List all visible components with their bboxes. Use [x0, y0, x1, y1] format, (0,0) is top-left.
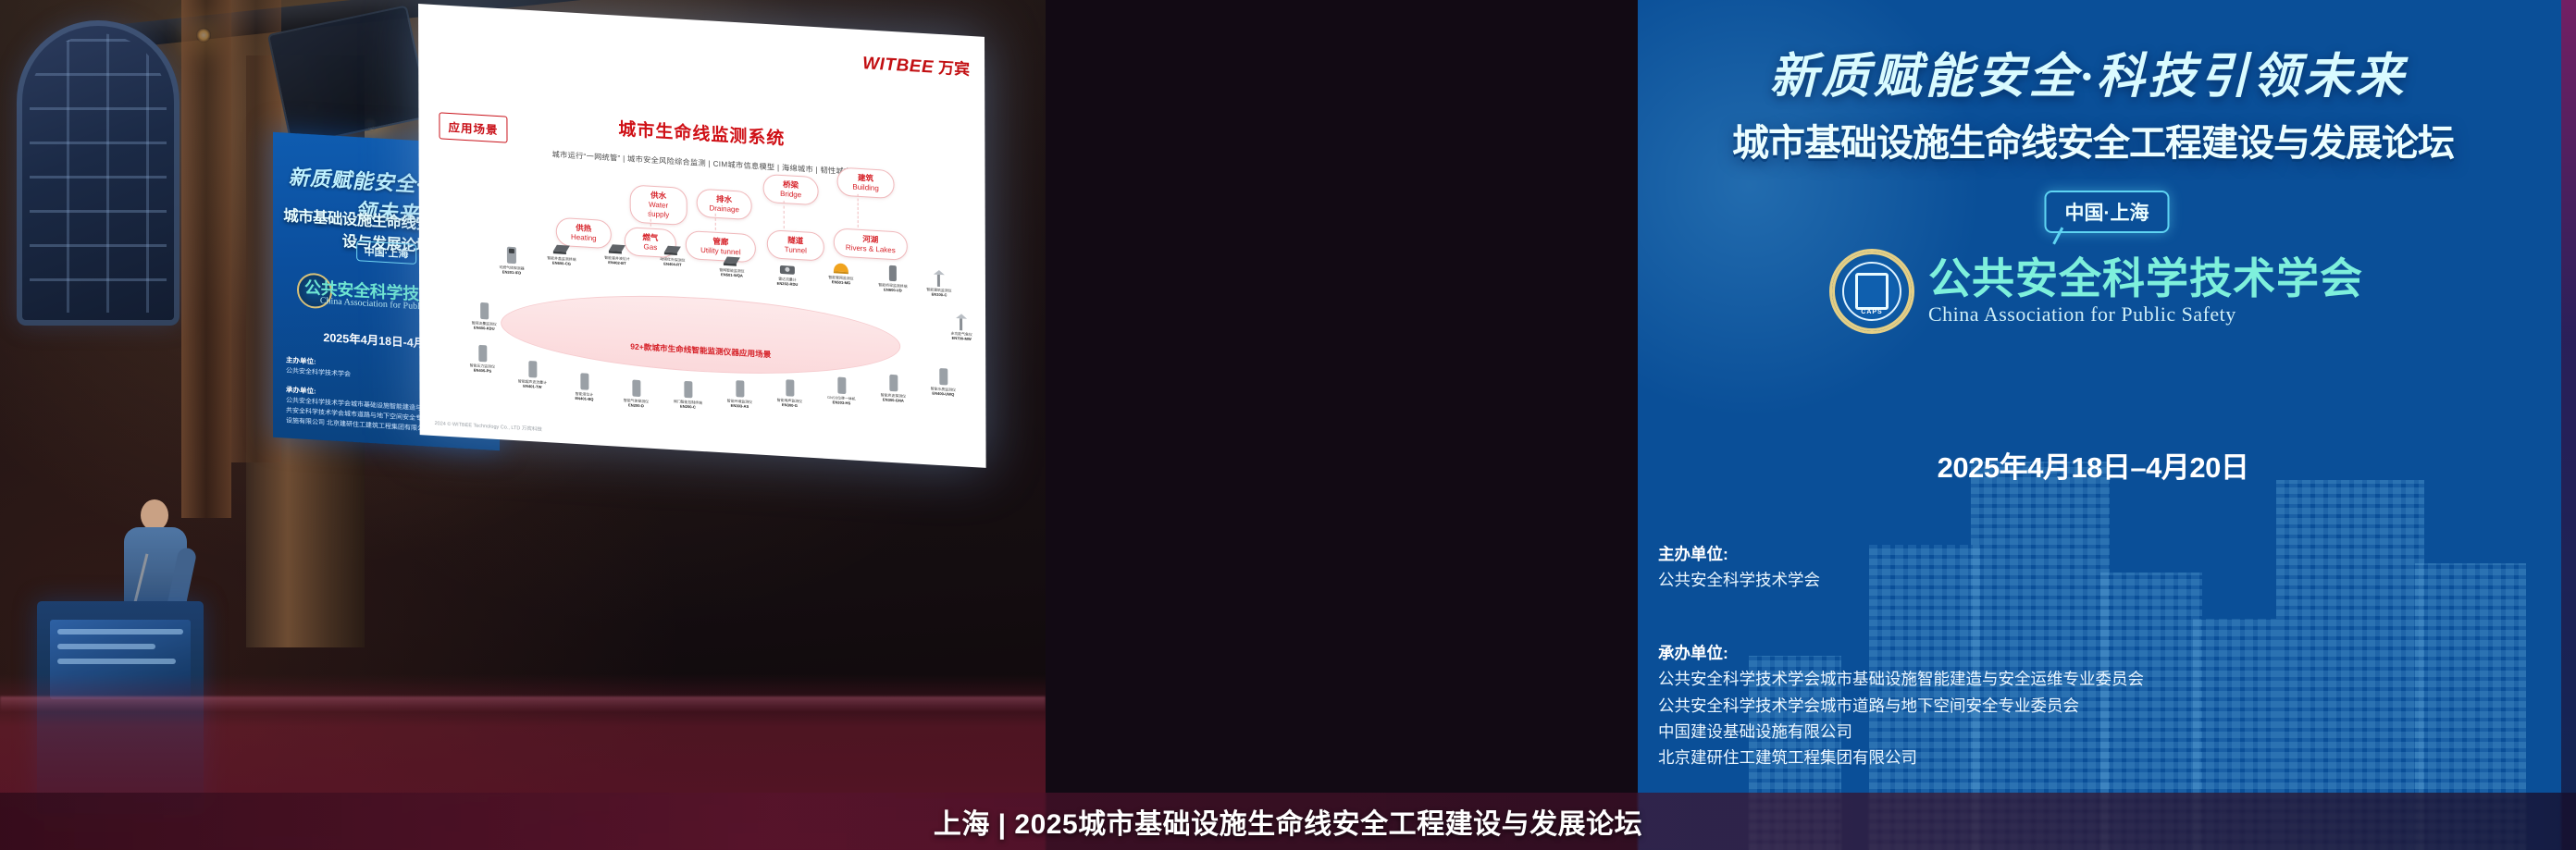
device-item: 智能桥梁监测终端 EN600-VD: [869, 264, 917, 295]
flow-meter-icon: [779, 262, 796, 277]
backdrop-organizer-en: China Association for Public Safety: [1928, 302, 2363, 326]
manhole-device-icon: [663, 243, 683, 256]
mini-coorg-label: 承办单位:: [286, 386, 316, 396]
backdrop-location-chip: 中国·上海: [2045, 191, 2170, 233]
device-item: 智能液位计 EN401-BQ: [560, 371, 608, 403]
device-item: 智能压力监测仪 EN405-PS: [458, 343, 506, 376]
witbee-logo-en: WITBEE: [862, 54, 934, 79]
device-item: 可燃气体探测器 EN301-IFD: [488, 244, 536, 277]
device-item: 智能声波探测仪 EN300-GNA: [869, 373, 917, 405]
caption-text: 上海 | 2025城市基础设施生命线安全工程建设与发展论坛: [934, 801, 1642, 842]
backdrop-calligraphy-slogan: 新质赋能安全·科技引领未来: [1638, 37, 2539, 106]
mini-host-label: 主办单位:: [286, 356, 316, 366]
device-item: GNSS位移一体机 EN303-HS: [817, 375, 865, 407]
sensor-device-icon: [887, 374, 899, 393]
scenario-bubble-building: 建筑 Building: [837, 166, 895, 198]
device-item: 雷达流量计 EN202-RDU: [763, 261, 811, 289]
presenter-head: [141, 499, 168, 531]
projected-slide: WITBEE 万宾 应用场景 城市生命线监测系统 城市运行“一网统管” | 城市…: [418, 4, 986, 468]
arched-window: [17, 20, 180, 326]
bottom-caption-bar: 上海 | 2025城市基础设施生命线安全工程建设与发展论坛: [0, 793, 2576, 850]
coorg-item: 公共安全科学技术学会城市道路与地下空间安全专业委员会: [1658, 696, 2079, 715]
screenshot-root: 新质赋能安全·科技引领未来 城市基础设施生命线安全工程建设与发展论坛 中国·上海…: [0, 0, 2576, 850]
witbee-logo-cn: 万宾: [938, 55, 970, 80]
caps-seal-text: CAPS: [1832, 309, 1912, 315]
sensor-device-icon: [784, 378, 796, 398]
sensor-device-icon: [682, 380, 694, 400]
manhole-device-icon: [607, 242, 627, 255]
host-label: 主办单位:: [1658, 545, 1728, 563]
sensor-device-icon: [578, 372, 590, 391]
mini-host-text: 公共安全科学技术学会: [286, 367, 351, 377]
sensor-device-icon: [630, 378, 642, 398]
weather-station-icon: [954, 313, 969, 331]
scenario-bubble-rivers-lakes: 河湖 Rivers & Lakes: [834, 228, 908, 260]
main-stage-backdrop: 新质赋能安全·科技引领未来 城市基础设施生命线安全工程建设与发展论坛 中国·上海…: [1638, 0, 2576, 850]
device-item: 管网流量监测仪 EN400-KDU: [460, 301, 508, 333]
device-item: 智能噪声监测仪 EN300-G: [765, 377, 813, 410]
wall-drape: [181, 0, 231, 518]
device-item: 多功能气象仪 EN700-MW: [937, 312, 985, 343]
tilt-sensor-icon: [886, 265, 899, 283]
device-item: 智能管网监测仪 EN501-MG: [817, 258, 865, 287]
device-item: 智能水质监测仪 EN400-UWQ: [919, 366, 967, 399]
device-item: 智能环境监测仪 EN303-AS: [715, 378, 763, 411]
scenario-bubble-tunnel: 隧道 Tunnel: [767, 229, 824, 261]
sensor-device-icon: [526, 360, 539, 379]
weather-station-icon: [932, 268, 947, 287]
backdrop-side-stripe: [2561, 0, 2576, 850]
backdrop-forum-title: 城市基础设施生命线安全工程建设与发展论坛: [1638, 113, 2548, 166]
coorg-label: 承办单位:: [1658, 644, 1728, 662]
sensor-device-icon: [937, 367, 949, 387]
backdrop-organizer-cn: 公共安全科学技术学会: [1928, 256, 2363, 301]
device-item: 管网智能监测仪 EN501-WQA: [708, 253, 756, 279]
coorg-item: 中国建设基础设施有限公司: [1658, 722, 1852, 741]
scenario-bubble-drainage: 排水 Drainage: [697, 189, 752, 220]
dome-sensor-icon: [833, 259, 849, 275]
sensor-device-icon: [477, 344, 489, 363]
sensor-device-icon: [836, 376, 848, 395]
coorg-item: 北京建研住工建筑工程集团有限公司: [1658, 748, 1917, 767]
sensor-device-icon: [478, 302, 490, 321]
host-item: 公共安全科学技术学会: [1658, 571, 1820, 589]
scenario-bubble-water-supply: 供水 Water supply: [630, 184, 687, 225]
manhole-device-icon: [722, 254, 742, 267]
device-item: 阀门智能控制终端 EN200-C: [663, 379, 712, 412]
device-item: 智能气体探测仪 EN200-D: [612, 377, 660, 410]
device-item: 动塔红外探测仪 EN404-RT: [649, 243, 697, 269]
scenario-bubble-bridge: 桥梁 Bridge: [763, 174, 819, 205]
sensor-device-icon: [734, 379, 746, 399]
sensor-device-icon: [505, 245, 518, 265]
device-item: 智能井盖监测终端 EN600-CG: [538, 242, 586, 268]
slide-footer-copyright: 2024 © WITBEE Technology Co., LTD 万宾科技: [435, 419, 542, 433]
caps-seal-icon: CAPS: [1832, 252, 1912, 331]
backdrop-organizer-row: CAPS 公共安全科学技术学会 China Association for Pu…: [1638, 252, 2557, 331]
backdrop-host-block: 主办单位: 公共安全科学技术学会: [1658, 541, 1820, 594]
manhole-device-icon: [551, 242, 572, 255]
backdrop-date: 2025年4月18日–4月20日: [1638, 444, 2548, 486]
witbee-logo: WITBEE 万宾: [862, 50, 970, 80]
coorg-item: 公共安全科学技术学会城市基础设施智能建造与安全运维专业委员会: [1658, 670, 2144, 688]
mini-banner-location-chip: 中国·上海: [356, 240, 417, 265]
device-item: 智能建筑监测仪 EN100-C: [915, 267, 963, 299]
device-item: 智能超声波流量计 EN401-TW: [508, 359, 556, 391]
ellipse-caption: 92+款城市生命线智能监测仪器应用场景: [502, 333, 899, 367]
backdrop-coorganizer-block: 承办单位: 公共安全科学技术学会城市基础设施智能建造与安全运维专业委员会 公共安…: [1658, 640, 2144, 771]
scenario-ellipse: 92+款城市生命线智能监测仪器应用场景: [501, 286, 900, 383]
device-item: 智能窨井液位计 EN402-BT: [593, 241, 641, 267]
